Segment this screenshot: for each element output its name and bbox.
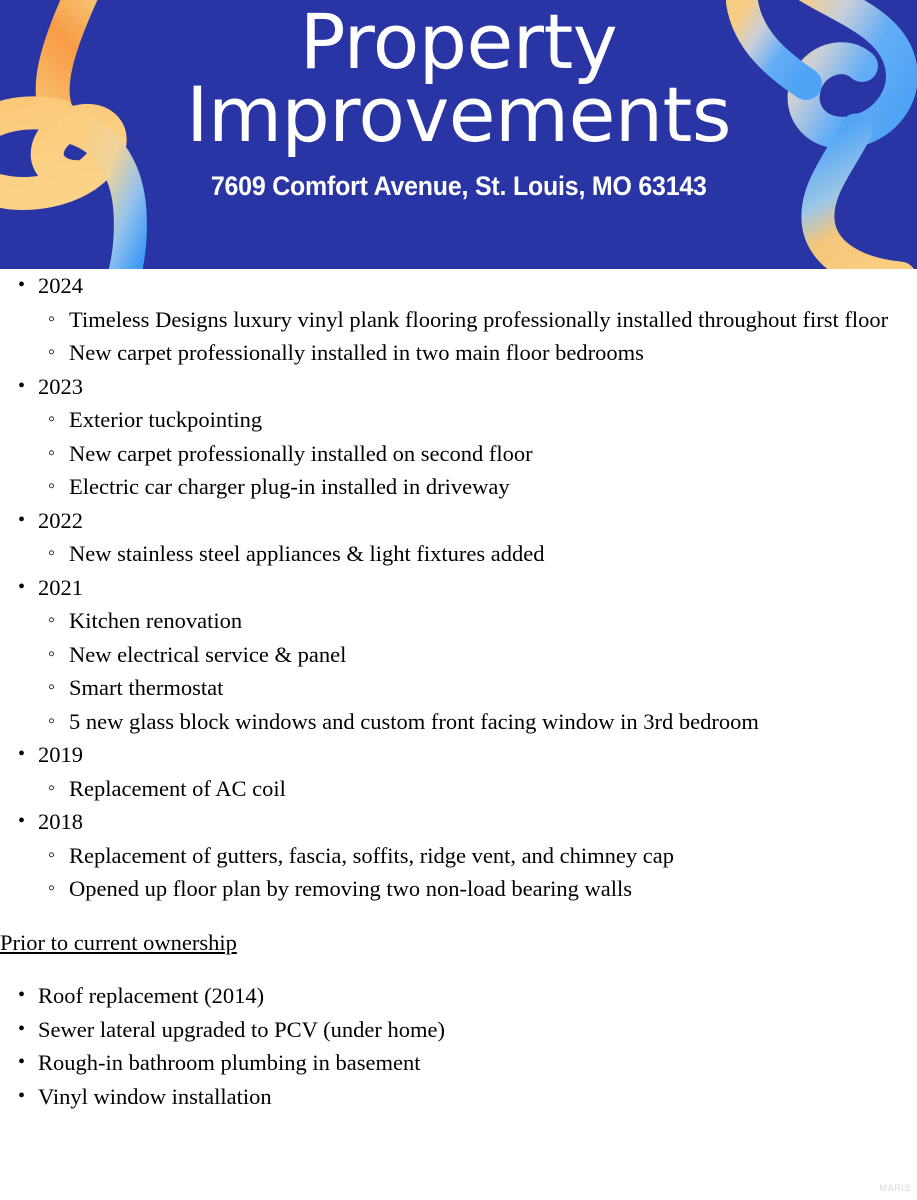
prior-ownership-item: Rough-in bathroom plumbing in basement	[0, 1046, 917, 1080]
prior-ownership-item: Roof replacement (2014)	[0, 979, 917, 1013]
improvements-content: 2024Timeless Designs luxury vinyl plank …	[0, 269, 917, 1113]
year-group: 2018Replacement of gutters, fascia, soff…	[0, 805, 917, 906]
page-title-line-2: Improvements	[186, 79, 731, 152]
page-title: Property Improvements	[186, 6, 731, 152]
year-label: 2024	[38, 269, 917, 303]
improvement-item: Opened up floor plan by removing two non…	[38, 872, 917, 906]
year-group: 2019Replacement of AC coil	[0, 738, 917, 805]
year-improvement-list: Replacement of gutters, fascia, soffits,…	[38, 839, 917, 906]
year-improvement-list: Replacement of AC coil	[38, 772, 917, 806]
page-title-line-1: Property	[186, 6, 731, 79]
improvement-item: New stainless steel appliances & light f…	[38, 537, 917, 571]
improvement-item: Replacement of gutters, fascia, soffits,…	[38, 839, 917, 873]
prior-ownership-item: Vinyl window installation	[0, 1080, 917, 1114]
banner-text-block: Property Improvements 7609 Comfort Avenu…	[0, 0, 917, 269]
prior-ownership-list: Roof replacement (2014)Sewer lateral upg…	[0, 979, 917, 1113]
year-group: 2021Kitchen renovationNew electrical ser…	[0, 571, 917, 739]
improvement-item: Timeless Designs luxury vinyl plank floo…	[38, 303, 917, 337]
year-group: 2023Exterior tuckpointingNew carpet prof…	[0, 370, 917, 504]
improvement-item: New carpet professionally installed in t…	[38, 336, 917, 370]
year-label: 2018	[38, 805, 917, 839]
header-banner: Property Improvements 7609 Comfort Avenu…	[0, 0, 917, 269]
prior-ownership-heading: Prior to current ownership	[0, 926, 917, 960]
year-label: 2021	[38, 571, 917, 605]
year-improvement-list: New stainless steel appliances & light f…	[38, 537, 917, 571]
year-improvement-list: Exterior tuckpointingNew carpet professi…	[38, 403, 917, 504]
improvement-item: Exterior tuckpointing	[38, 403, 917, 437]
improvement-item: 5 new glass block windows and custom fro…	[38, 705, 917, 739]
improvement-item: Electric car charger plug-in installed i…	[38, 470, 917, 504]
improvement-item: New electrical service & panel	[38, 638, 917, 672]
maris-watermark: MARIS	[879, 1183, 911, 1193]
improvement-item: New carpet professionally installed on s…	[38, 437, 917, 471]
prior-ownership-item: Sewer lateral upgraded to PCV (under hom…	[0, 1013, 917, 1047]
year-group: 2022New stainless steel appliances & lig…	[0, 504, 917, 571]
year-label: 2019	[38, 738, 917, 772]
improvement-item: Smart thermostat	[38, 671, 917, 705]
improvement-item: Kitchen renovation	[38, 604, 917, 638]
year-label: 2022	[38, 504, 917, 538]
year-label: 2023	[38, 370, 917, 404]
improvement-item: Replacement of AC coil	[38, 772, 917, 806]
year-improvement-list: Timeless Designs luxury vinyl plank floo…	[38, 303, 917, 370]
improvements-by-year-list: 2024Timeless Designs luxury vinyl plank …	[0, 269, 917, 906]
property-address: 7609 Comfort Avenue, St. Louis, MO 63143	[211, 152, 707, 202]
year-improvement-list: Kitchen renovationNew electrical service…	[38, 604, 917, 738]
year-group: 2024Timeless Designs luxury vinyl plank …	[0, 269, 917, 370]
